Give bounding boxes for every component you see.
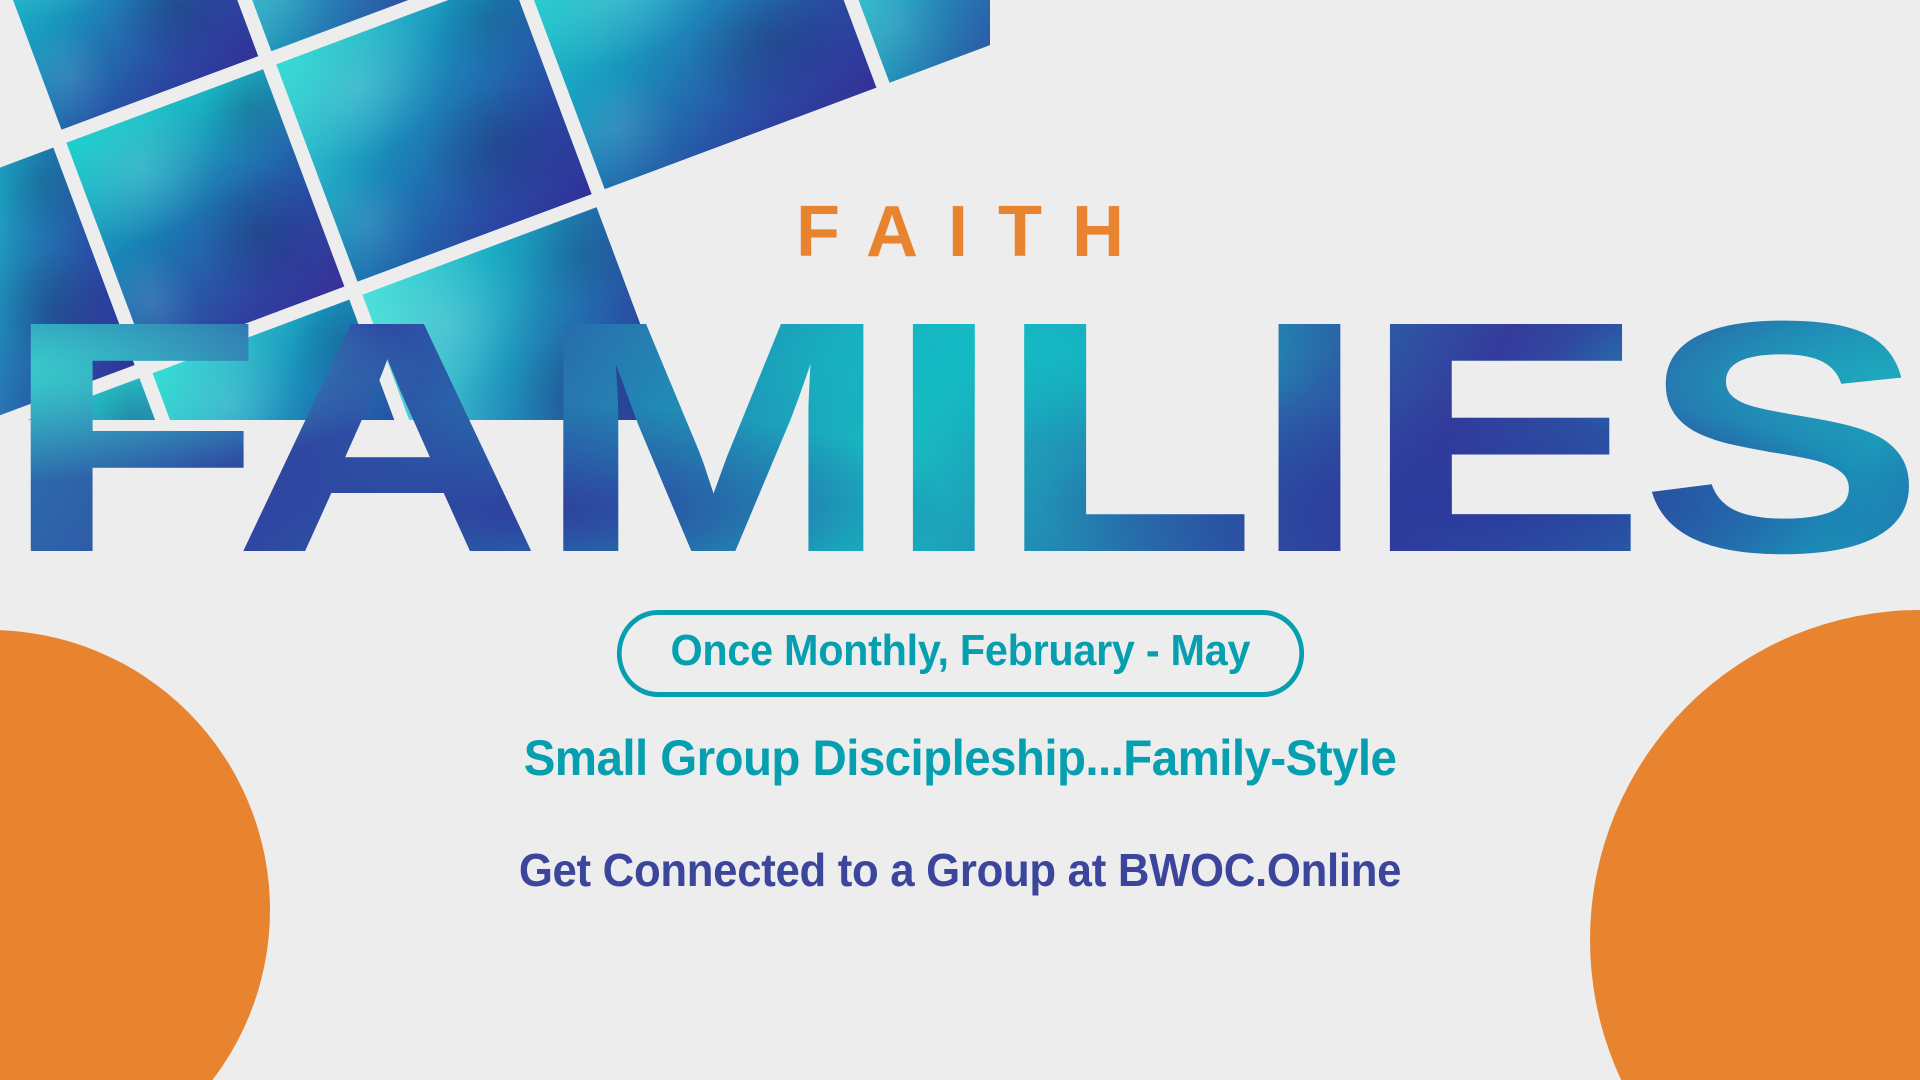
poster-canvas: FAITH FAMILIES Once Monthly, February - … (0, 0, 1920, 1080)
call-to-action: Get Connected to a Group at BWOC.Online (48, 843, 1872, 897)
title-families-wrapper: FAMILIES (0, 272, 1920, 602)
tagline: Small Group Discipleship...Family-Style (48, 729, 1872, 787)
schedule-badge: Once Monthly, February - May (617, 610, 1304, 697)
headline-block: FAITH FAMILIES Once Monthly, February - … (0, 196, 1920, 897)
page-title: FAMILIES (0, 272, 1920, 602)
